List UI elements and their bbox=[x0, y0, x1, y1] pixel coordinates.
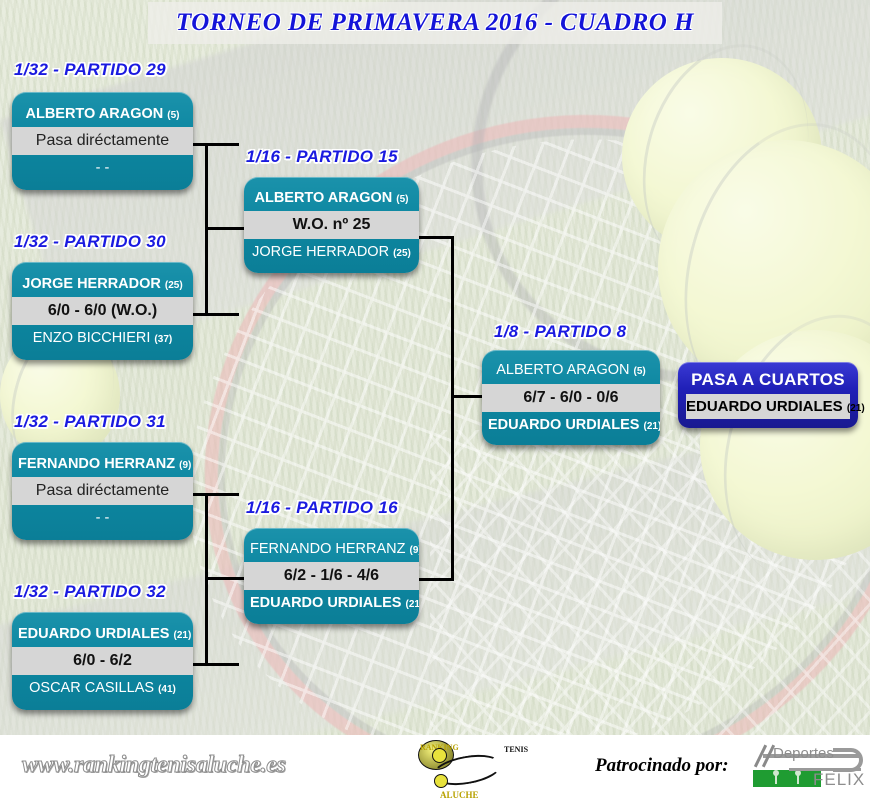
round-label-partido-16: 1/16 - PARTIDO 16 bbox=[246, 498, 398, 518]
player-seed: (5) bbox=[634, 366, 646, 377]
match-bottom-player: ENZO BICCHIERI (37) bbox=[12, 331, 193, 346]
connector-16-out bbox=[416, 578, 454, 581]
connector-15-out bbox=[416, 236, 454, 239]
club-small-ball-icon bbox=[434, 774, 448, 788]
connector-15-16-vertical bbox=[451, 236, 454, 581]
round-label-partido-29: 1/32 - PARTIDO 29 bbox=[14, 60, 166, 80]
match-score: 6/0 - 6/0 (W.O.) bbox=[12, 297, 193, 325]
match-top-player: FERNANDO HERRANZ (9) bbox=[244, 542, 419, 557]
player-seed: (37) bbox=[154, 334, 172, 345]
player-name: - - bbox=[96, 161, 110, 176]
qualifier-player: EDUARDO URDIALES (21) bbox=[686, 394, 850, 419]
sponsor-pin-icon bbox=[775, 773, 777, 784]
round-label-partido-32: 1/32 - PARTIDO 32 bbox=[14, 582, 166, 602]
sponsor-pin-icon bbox=[797, 773, 799, 784]
match-bottom-player: EDUARDO URDIALES (21) bbox=[482, 418, 660, 433]
player-seed: (25) bbox=[393, 248, 411, 259]
connector-30-out bbox=[193, 313, 239, 316]
connector-32-out bbox=[193, 663, 239, 666]
match-bottom-player: - - bbox=[12, 511, 193, 526]
website-link[interactable]: www.rankingtenisaluche.es bbox=[22, 752, 286, 779]
qualifier-box[interactable]: PASA A CUARTOS EDUARDO URDIALES (21) bbox=[678, 362, 858, 428]
match-box-partido-32[interactable]: EDUARDO URDIALES (21) 6/0 - 6/2 ÓSCAR CA… bbox=[12, 612, 193, 710]
page-title: TORNEO DE PRIMAVERA 2016 - CUADRO H bbox=[176, 9, 694, 37]
player-seed: (5) bbox=[396, 194, 408, 205]
player-seed: (9) bbox=[410, 545, 419, 556]
match-top-player: FERNANDO HERRANZ (9) bbox=[12, 457, 193, 472]
player-name: EDUARDO URDIALES bbox=[488, 418, 639, 433]
club-small-ball-icon bbox=[432, 748, 447, 763]
match-score: 6/7 - 6/0 - 0/6 bbox=[482, 384, 660, 412]
player-name: ENZO BICCHIERI bbox=[33, 331, 151, 346]
player-seed: (41) bbox=[158, 684, 176, 695]
match-score: W.O. nº 25 bbox=[244, 211, 419, 239]
round-label-partido-15: 1/16 - PARTIDO 15 bbox=[246, 147, 398, 167]
round-label-partido-31: 1/32 - PARTIDO 31 bbox=[14, 412, 166, 432]
connector-into-15 bbox=[205, 227, 249, 230]
connector-31-out bbox=[193, 493, 239, 496]
match-top-player: ALBERTO ARAGÓN (5) bbox=[12, 107, 193, 122]
player-seed: (21) bbox=[847, 403, 865, 414]
player-seed: (5) bbox=[167, 110, 179, 121]
player-name: FERNANDO HERRANZ bbox=[250, 542, 405, 557]
sponsor-name-bottom: FELIX bbox=[813, 770, 865, 790]
player-name: ALBERTO ARAGÓN bbox=[496, 363, 629, 378]
club-tenis-label: TENIS bbox=[504, 746, 514, 754]
player-name: FERNANDO HERRANZ bbox=[18, 457, 175, 472]
sponsor-name-top: Deportes bbox=[773, 745, 834, 762]
sponsor-label: Patrocinado por: bbox=[595, 755, 729, 777]
match-box-partido-16[interactable]: FERNANDO HERRANZ (9) 6/2 - 1/6 - 4/6 EDU… bbox=[244, 528, 419, 624]
connector-29-out bbox=[193, 143, 239, 146]
match-box-partido-31[interactable]: FERNANDO HERRANZ (9) Pasa diréctamente -… bbox=[12, 442, 193, 540]
match-bottom-player: - - bbox=[12, 161, 193, 176]
match-box-partido-8[interactable]: ALBERTO ARAGÓN (5) 6/7 - 6/0 - 0/6 EDUAR… bbox=[482, 350, 660, 445]
player-name: EDUARDO URDIALES bbox=[250, 596, 401, 611]
player-seed: (9) bbox=[179, 460, 191, 471]
match-bottom-player: EDUARDO URDIALES (21) bbox=[244, 596, 419, 611]
round-label-partido-8: 1/8 - PARTIDO 8 bbox=[494, 322, 626, 342]
match-score: 6/2 - 1/6 - 4/6 bbox=[244, 562, 419, 590]
qualifier-title: PASA A CUARTOS bbox=[678, 365, 858, 394]
match-bottom-player: JORGE HERRADOR (25) bbox=[244, 245, 419, 260]
round-label-partido-30: 1/32 - PARTIDO 30 bbox=[14, 232, 166, 252]
club-logo-icon: RANKING TENIS ALUCHE bbox=[418, 740, 518, 802]
player-name: ALBERTO ARAGÓN bbox=[254, 191, 392, 206]
match-top-player: EDUARDO URDIALES (21) bbox=[12, 627, 193, 642]
player-seed: (21) bbox=[643, 421, 660, 432]
match-top-player: JORGE HERRADOR (25) bbox=[12, 277, 193, 292]
player-name: ÓSCAR CASILLAS bbox=[29, 681, 154, 696]
connector-into-8 bbox=[451, 395, 485, 398]
player-name: JORGE HERRADOR bbox=[252, 245, 389, 260]
bracket-page: TORNEO DE PRIMAVERA 2016 - CUADRO H 1/32… bbox=[0, 0, 870, 804]
match-score: Pasa diréctamente bbox=[12, 127, 193, 155]
player-seed: (21) bbox=[173, 630, 191, 641]
title-banner: TORNEO DE PRIMAVERA 2016 - CUADRO H bbox=[148, 2, 722, 44]
match-box-partido-30[interactable]: JORGE HERRADOR (25) 6/0 - 6/0 (W.O.) ENZ… bbox=[12, 262, 193, 360]
match-bottom-player: ÓSCAR CASILLAS (41) bbox=[12, 681, 193, 696]
player-name: ALBERTO ARAGÓN bbox=[25, 107, 163, 122]
match-score: Pasa diréctamente bbox=[12, 477, 193, 505]
player-name: JORGE HERRADOR bbox=[22, 277, 161, 292]
player-seed: (21) bbox=[405, 599, 419, 610]
match-score: 6/0 - 6/2 bbox=[12, 647, 193, 675]
player-name: - - bbox=[96, 511, 110, 526]
club-name-label: ALUCHE bbox=[440, 790, 479, 800]
player-name: EDUARDO URDIALES bbox=[18, 627, 169, 642]
player-seed: (25) bbox=[165, 280, 183, 291]
match-top-player: ALBERTO ARAGÓN (5) bbox=[244, 191, 419, 206]
player-name: EDUARDO URDIALES bbox=[686, 398, 843, 415]
match-top-player: ALBERTO ARAGÓN (5) bbox=[482, 363, 660, 378]
connector-into-16 bbox=[205, 577, 249, 580]
match-box-partido-15[interactable]: ALBERTO ARAGÓN (5) W.O. nº 25 JORGE HERR… bbox=[244, 177, 419, 273]
sponsor-green-block-icon bbox=[753, 770, 821, 787]
sponsor-logo: Deportes FELIX bbox=[745, 742, 863, 792]
match-box-partido-29[interactable]: ALBERTO ARAGÓN (5) Pasa diréctamente - - bbox=[12, 92, 193, 190]
club-ranking-label: RANKING bbox=[420, 744, 430, 752]
